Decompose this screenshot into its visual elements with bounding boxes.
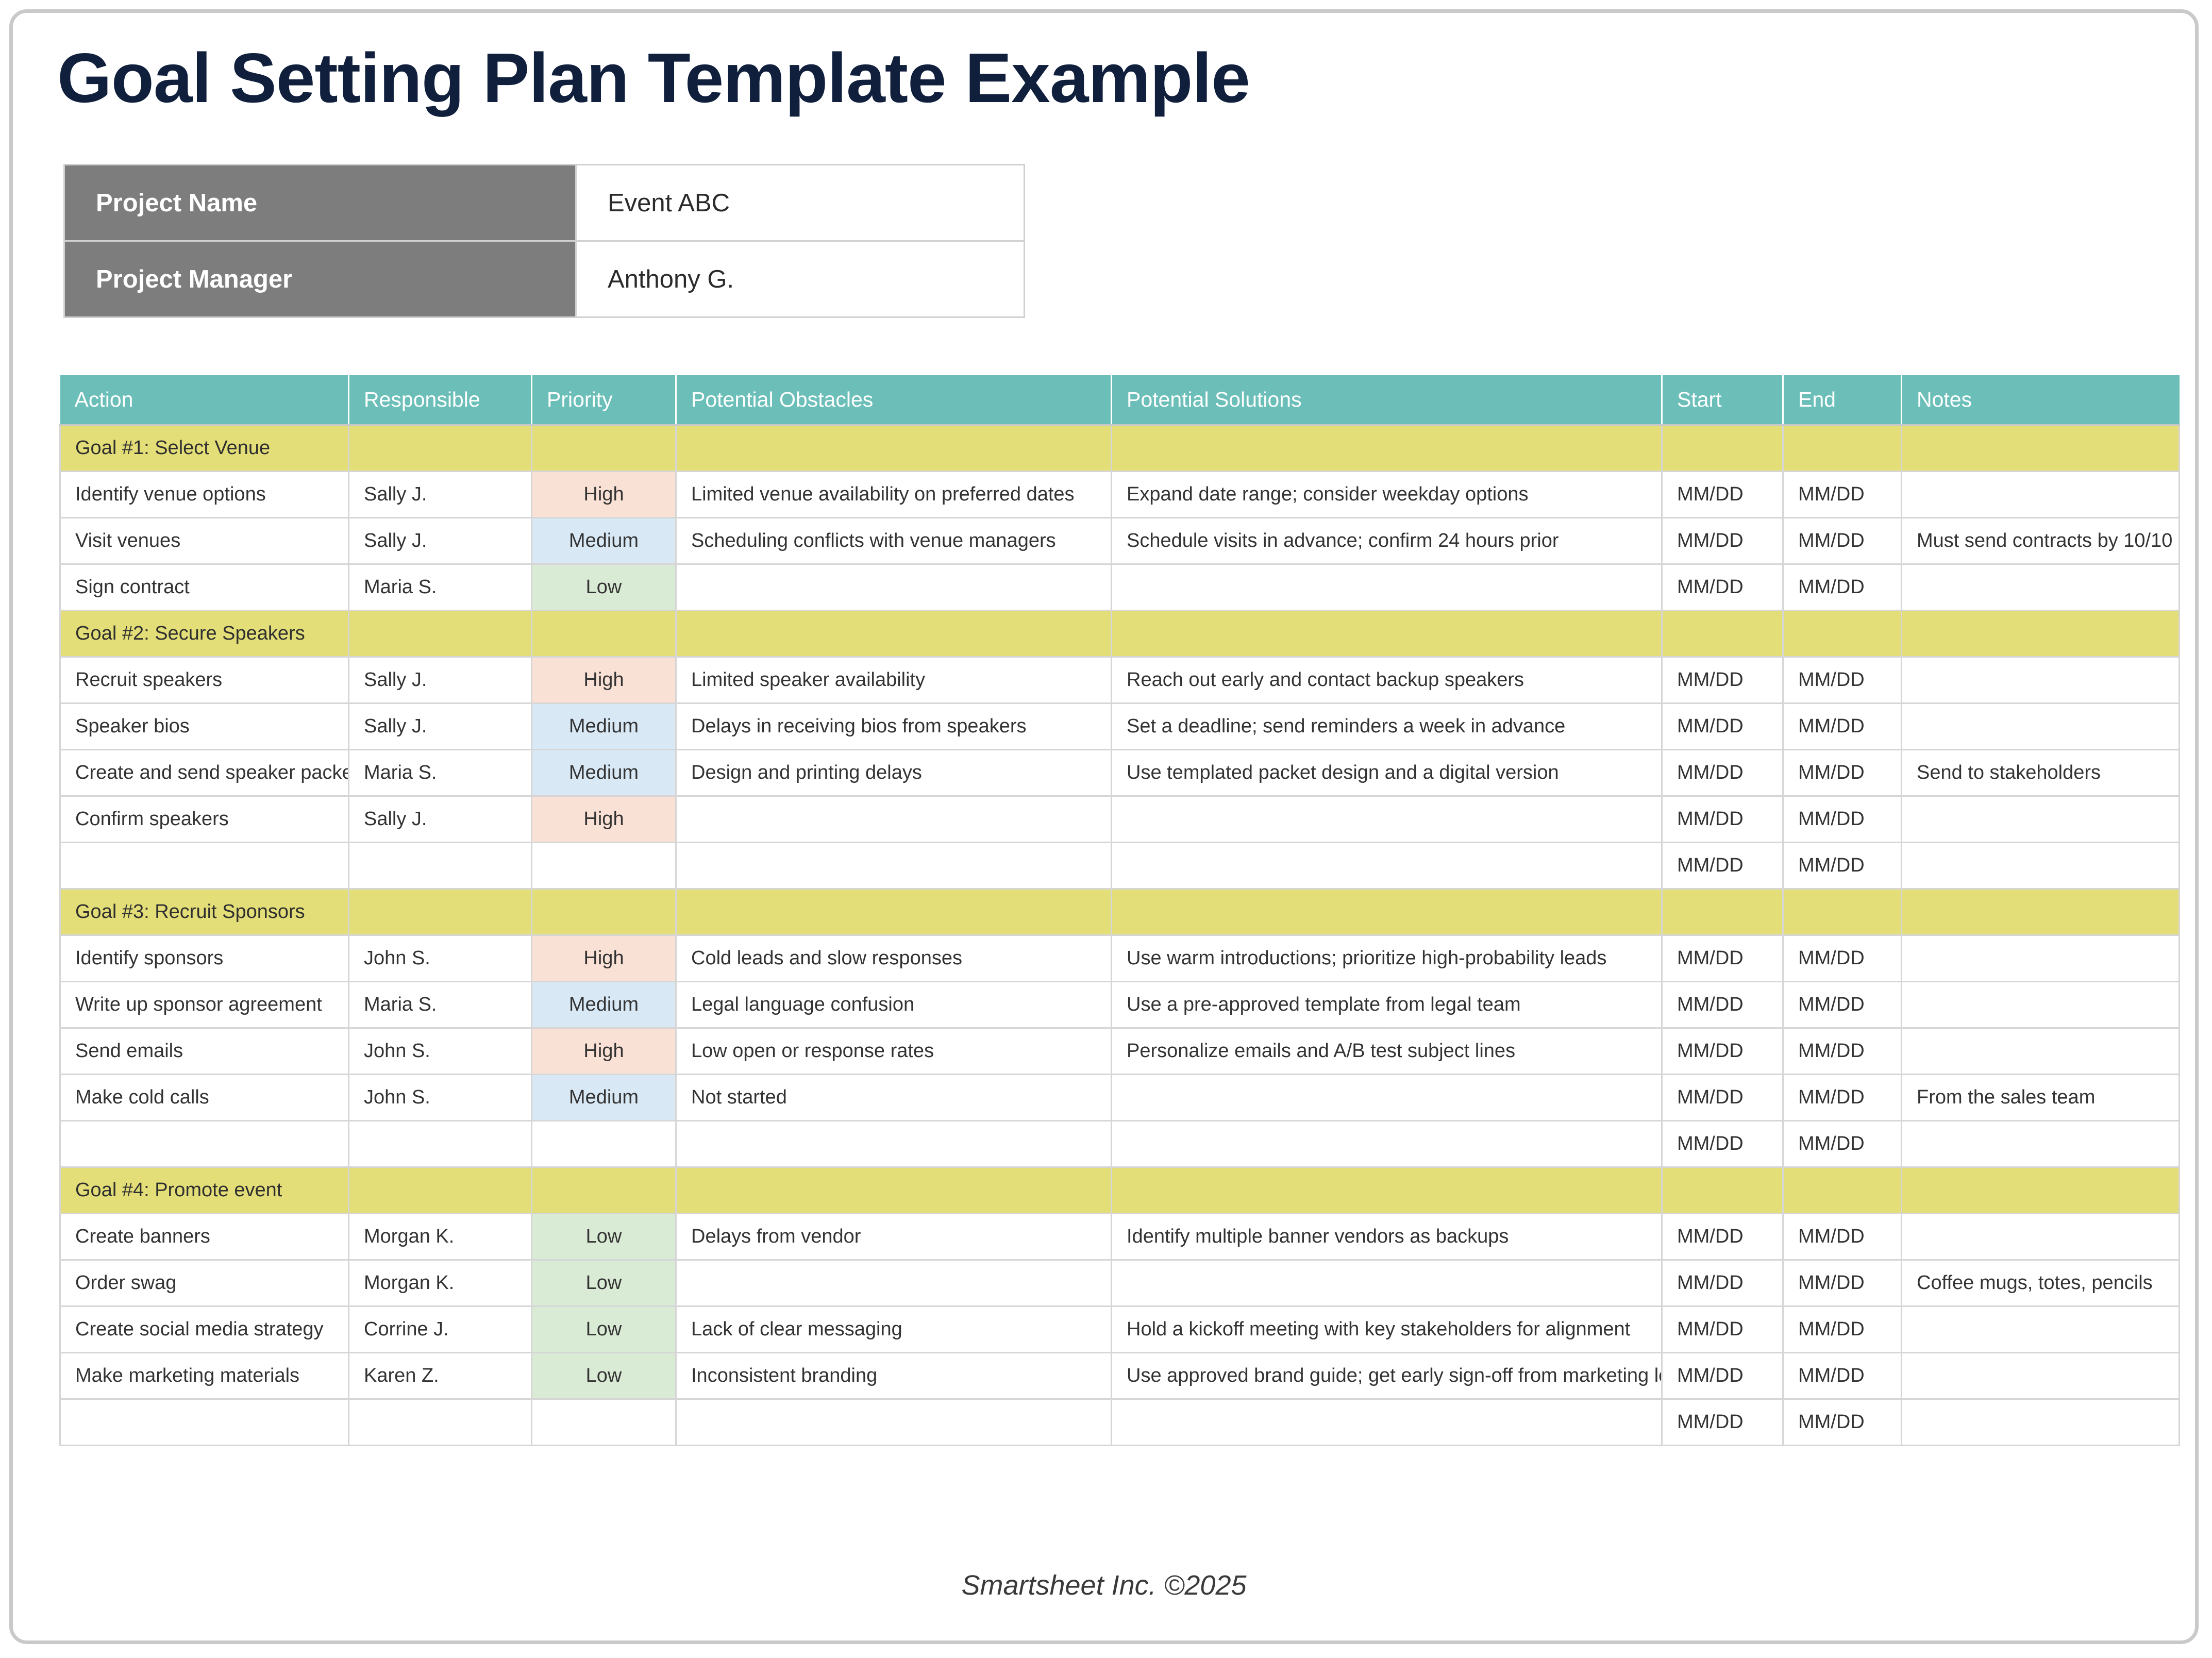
table-row: Order swagMorgan K.LowMM/DDMM/DDCoffee m… [60, 1260, 2180, 1307]
end-date-cell[interactable]: MM/DD [1783, 1214, 1902, 1260]
solutions-cell[interactable] [1112, 796, 1662, 843]
responsible-cell[interactable]: Maria S. [349, 982, 532, 1028]
start-date-cell[interactable]: MM/DD [1662, 843, 1783, 889]
action-cell[interactable]: Sign contract [60, 564, 349, 611]
end-date-cell[interactable]: MM/DD [1783, 1399, 1902, 1446]
footer-copyright: Smartsheet Inc. ©2025 [13, 1569, 2195, 1601]
responsible-cell[interactable]: Maria S. [349, 564, 532, 611]
column-header-potential-solutions: Potential Solutions [1112, 375, 1662, 425]
priority-cell[interactable]: Low [532, 1353, 676, 1399]
project-info-body: Project NameEvent ABCProject ManagerAnth… [64, 165, 1025, 317]
end-date-cell[interactable]: MM/DD [1783, 1075, 1902, 1121]
start-date-cell[interactable]: MM/DD [1662, 1214, 1783, 1260]
action-cell[interactable]: Create banners [60, 1214, 349, 1260]
page-title: Goal Setting Plan Template Example [57, 38, 1250, 118]
obstacles-cell[interactable]: Limited speaker availability [676, 657, 1112, 704]
solutions-cell[interactable]: Reach out early and contact backup speak… [1112, 657, 1662, 704]
notes-cell[interactable] [1902, 657, 2180, 704]
table-row: Recruit speakersSally J.HighLimited spea… [60, 657, 2180, 704]
solutions-cell [1112, 1167, 1662, 1214]
responsible-cell[interactable]: Morgan K. [349, 1260, 532, 1307]
notes-cell [1902, 611, 2180, 657]
responsible-cell[interactable] [349, 1399, 532, 1446]
obstacles-cell[interactable] [676, 1121, 1112, 1167]
priority-cell[interactable] [532, 1121, 676, 1167]
solutions-cell[interactable]: Expand date range; consider weekday opti… [1112, 472, 1662, 518]
obstacles-cell[interactable]: Lack of clear messaging [676, 1307, 1112, 1353]
action-cell[interactable]: Visit venues [60, 518, 349, 564]
table-row: Create bannersMorgan K.LowDelays from ve… [60, 1214, 2180, 1260]
start-date-cell[interactable]: MM/DD [1662, 1028, 1783, 1075]
priority-cell [532, 425, 676, 472]
priority-cell[interactable]: High [532, 935, 676, 982]
priority-cell [532, 611, 676, 657]
action-cell[interactable]: Confirm speakers [60, 796, 349, 843]
end-date-cell[interactable]: MM/DD [1783, 1121, 1902, 1167]
notes-cell[interactable] [1902, 982, 2180, 1028]
goal-section-row: Goal #2: Secure Speakers [60, 611, 2180, 657]
action-cell[interactable]: Order swag [60, 1260, 349, 1307]
end-date-cell[interactable]: MM/DD [1783, 657, 1902, 704]
end-date-cell[interactable]: MM/DD [1783, 1260, 1902, 1307]
table-row: MM/DDMM/DD [60, 1121, 2180, 1167]
notes-cell[interactable] [1902, 472, 2180, 518]
notes-cell[interactable]: From the sales team [1902, 1075, 2180, 1121]
plan-table-body: Goal #1: Select VenueIdentify venue opti… [60, 425, 2180, 1446]
solutions-cell[interactable] [1112, 843, 1662, 889]
table-row: MM/DDMM/DD [60, 1399, 2180, 1446]
solutions-cell[interactable]: Personalize emails and A/B test subject … [1112, 1028, 1662, 1075]
priority-cell[interactable]: High [532, 472, 676, 518]
table-row: Identify venue optionsSally J.HighLimite… [60, 472, 2180, 518]
obstacles-cell[interactable] [676, 564, 1112, 611]
obstacles-cell [676, 1167, 1112, 1214]
priority-cell[interactable]: High [532, 1028, 676, 1075]
table-row: Send emailsJohn S.HighLow open or respon… [60, 1028, 2180, 1075]
responsible-cell[interactable]: John S. [349, 1028, 532, 1075]
table-row: Create social media strategyCorrine J.Lo… [60, 1307, 2180, 1353]
start-date-cell [1662, 425, 1783, 472]
notes-cell[interactable] [1902, 1307, 2180, 1353]
notes-cell [1902, 889, 2180, 935]
end-date-cell[interactable]: MM/DD [1783, 982, 1902, 1028]
responsible-cell[interactable]: Sally J. [349, 704, 532, 750]
project-info-label: Project Manager [64, 241, 576, 317]
priority-cell [532, 889, 676, 935]
priority-cell[interactable]: Medium [532, 750, 676, 796]
notes-cell[interactable]: Send to stakeholders [1902, 750, 2180, 796]
plan-table-head: ActionResponsiblePriorityPotential Obsta… [60, 375, 2180, 425]
solutions-cell[interactable]: Set a deadline; send reminders a week in… [1112, 704, 1662, 750]
obstacles-cell [676, 889, 1112, 935]
responsible-cell[interactable]: Sally J. [349, 518, 532, 564]
priority-cell[interactable]: Medium [532, 704, 676, 750]
start-date-cell[interactable]: MM/DD [1662, 1399, 1783, 1446]
solutions-cell[interactable] [1112, 1399, 1662, 1446]
action-cell[interactable]: Identify venue options [60, 472, 349, 518]
end-date-cell[interactable]: MM/DD [1783, 796, 1902, 843]
start-date-cell [1662, 1167, 1783, 1214]
obstacles-cell[interactable]: Low open or response rates [676, 1028, 1112, 1075]
end-date-cell[interactable]: MM/DD [1783, 518, 1902, 564]
priority-cell[interactable]: High [532, 657, 676, 704]
table-row: Make marketing materialsKaren Z.LowIncon… [60, 1353, 2180, 1399]
solutions-cell[interactable] [1112, 564, 1662, 611]
priority-cell[interactable]: Medium [532, 982, 676, 1028]
priority-cell[interactable] [532, 1399, 676, 1446]
end-date-cell [1783, 611, 1902, 657]
notes-cell [1902, 1167, 2180, 1214]
column-header-notes: Notes [1902, 375, 2180, 425]
obstacles-cell[interactable] [676, 796, 1112, 843]
project-info-row: Project NameEvent ABC [64, 165, 1025, 241]
end-date-cell[interactable]: MM/DD [1783, 935, 1902, 982]
goal-label: Goal #3: Recruit Sponsors [60, 889, 349, 935]
start-date-cell[interactable]: MM/DD [1662, 750, 1783, 796]
column-header-responsible: Responsible [349, 375, 532, 425]
project-info-row: Project ManagerAnthony G. [64, 241, 1025, 317]
notes-cell[interactable] [1902, 1214, 2180, 1260]
priority-cell[interactable]: Low [532, 1214, 676, 1260]
start-date-cell[interactable]: MM/DD [1662, 1260, 1783, 1307]
notes-cell[interactable] [1902, 935, 2180, 982]
notes-cell[interactable] [1902, 564, 2180, 611]
responsible-cell[interactable] [349, 843, 532, 889]
solutions-cell [1112, 889, 1662, 935]
goal-label: Goal #4: Promote event [60, 1167, 349, 1214]
end-date-cell[interactable]: MM/DD [1783, 704, 1902, 750]
end-date-cell [1783, 1167, 1902, 1214]
action-cell[interactable]: Create social media strategy [60, 1307, 349, 1353]
column-header-potential-obstacles: Potential Obstacles [676, 375, 1112, 425]
start-date-cell[interactable]: MM/DD [1662, 1307, 1783, 1353]
responsible-cell[interactable]: Sally J. [349, 472, 532, 518]
priority-cell[interactable]: Medium [532, 1075, 676, 1121]
obstacles-cell[interactable]: Delays from vendor [676, 1214, 1112, 1260]
solutions-cell[interactable]: Identify multiple banner vendors as back… [1112, 1214, 1662, 1260]
notes-cell[interactable] [1902, 796, 2180, 843]
responsible-cell [349, 1167, 532, 1214]
project-info-table: Project NameEvent ABCProject ManagerAnth… [63, 164, 1025, 318]
priority-cell[interactable]: Medium [532, 518, 676, 564]
solutions-cell[interactable] [1112, 1075, 1662, 1121]
action-cell[interactable] [60, 1121, 349, 1167]
notes-cell[interactable] [1902, 1121, 2180, 1167]
priority-cell [532, 1167, 676, 1214]
responsible-cell [349, 889, 532, 935]
start-date-cell[interactable]: MM/DD [1662, 657, 1783, 704]
responsible-cell[interactable]: John S. [349, 1075, 532, 1121]
solutions-cell[interactable]: Use a pre-approved template from legal t… [1112, 982, 1662, 1028]
obstacles-cell[interactable]: Limited venue availability on preferred … [676, 472, 1112, 518]
solutions-cell [1112, 425, 1662, 472]
responsible-cell[interactable]: Morgan K. [349, 1214, 532, 1260]
goal-label: Goal #2: Secure Speakers [60, 611, 349, 657]
action-cell[interactable]: Send emails [60, 1028, 349, 1075]
end-date-cell[interactable]: MM/DD [1783, 564, 1902, 611]
action-cell[interactable] [60, 843, 349, 889]
end-date-cell[interactable]: MM/DD [1783, 1307, 1902, 1353]
priority-cell[interactable]: High [532, 796, 676, 843]
obstacles-cell [676, 425, 1112, 472]
plan-table-header-row: ActionResponsiblePriorityPotential Obsta… [60, 375, 2180, 425]
table-row: Create and send speaker packetsMaria S.M… [60, 750, 2180, 796]
action-cell[interactable]: Identify sponsors [60, 935, 349, 982]
priority-cell[interactable]: Low [532, 1307, 676, 1353]
start-date-cell[interactable]: MM/DD [1662, 564, 1783, 611]
solutions-cell[interactable]: Use warm introductions; prioritize high-… [1112, 935, 1662, 982]
responsible-cell[interactable] [349, 1121, 532, 1167]
notes-cell[interactable] [1902, 1353, 2180, 1399]
project-info-value[interactable]: Anthony G. [576, 241, 1025, 317]
table-row: Speaker biosSally J.MediumDelays in rece… [60, 704, 2180, 750]
start-date-cell[interactable]: MM/DD [1662, 935, 1783, 982]
end-date-cell[interactable]: MM/DD [1783, 472, 1902, 518]
obstacles-cell [676, 611, 1112, 657]
end-date-cell[interactable]: MM/DD [1783, 1353, 1902, 1399]
start-date-cell[interactable]: MM/DD [1662, 704, 1783, 750]
column-header-priority: Priority [532, 375, 676, 425]
action-cell[interactable]: Write up sponsor agreement [60, 982, 349, 1028]
obstacles-cell[interactable]: Design and printing delays [676, 750, 1112, 796]
responsible-cell[interactable]: John S. [349, 935, 532, 982]
notes-cell[interactable]: Coffee mugs, totes, pencils [1902, 1260, 2180, 1307]
start-date-cell[interactable]: MM/DD [1662, 1353, 1783, 1399]
table-row: Make cold callsJohn S.MediumNot startedM… [60, 1075, 2180, 1121]
goal-section-row: Goal #4: Promote event [60, 1167, 2180, 1214]
goal-plan-table: ActionResponsiblePriorityPotential Obsta… [59, 375, 2180, 1446]
table-row: MM/DDMM/DD [60, 843, 2180, 889]
obstacles-cell[interactable]: Inconsistent branding [676, 1353, 1112, 1399]
obstacles-cell[interactable]: Legal language confusion [676, 982, 1112, 1028]
start-date-cell[interactable]: MM/DD [1662, 1075, 1783, 1121]
start-date-cell[interactable]: MM/DD [1662, 518, 1783, 564]
solutions-cell[interactable]: Use templated packet design and a digita… [1112, 750, 1662, 796]
table-row: Identify sponsorsJohn S.HighCold leads a… [60, 935, 2180, 982]
start-date-cell[interactable]: MM/DD [1662, 982, 1783, 1028]
end-date-cell[interactable]: MM/DD [1783, 750, 1902, 796]
project-info-label: Project Name [64, 165, 576, 241]
goal-section-row: Goal #1: Select Venue [60, 425, 2180, 472]
action-cell[interactable]: Recruit speakers [60, 657, 349, 704]
end-date-cell[interactable]: MM/DD [1783, 1028, 1902, 1075]
start-date-cell [1662, 889, 1783, 935]
obstacles-cell[interactable] [676, 1399, 1112, 1446]
document-page: Goal Setting Plan Template Example Proje… [9, 9, 2199, 1644]
priority-cell[interactable] [532, 843, 676, 889]
table-row: Confirm speakersSally J.HighMM/DDMM/DD [60, 796, 2180, 843]
solutions-cell [1112, 611, 1662, 657]
obstacles-cell[interactable]: Delays in receiving bios from speakers [676, 704, 1112, 750]
notes-cell[interactable] [1902, 1028, 2180, 1075]
obstacles-cell[interactable]: Cold leads and slow responses [676, 935, 1112, 982]
action-cell[interactable]: Create and send speaker packets [60, 750, 349, 796]
table-row: Sign contractMaria S.LowMM/DDMM/DD [60, 564, 2180, 611]
responsible-cell[interactable]: Sally J. [349, 657, 532, 704]
solutions-cell[interactable] [1112, 1121, 1662, 1167]
solutions-cell[interactable]: Schedule visits in advance; confirm 24 h… [1112, 518, 1662, 564]
end-date-cell [1783, 889, 1902, 935]
obstacles-cell[interactable] [676, 1260, 1112, 1307]
notes-cell [1902, 425, 2180, 472]
start-date-cell[interactable]: MM/DD [1662, 1121, 1783, 1167]
start-date-cell[interactable]: MM/DD [1662, 796, 1783, 843]
responsible-cell [349, 425, 532, 472]
solutions-cell[interactable]: Hold a kickoff meeting with key stakehol… [1112, 1307, 1662, 1353]
priority-cell[interactable]: Low [532, 1260, 676, 1307]
notes-cell[interactable] [1902, 1399, 2180, 1446]
column-header-end: End [1783, 375, 1902, 425]
responsible-cell[interactable]: Karen Z. [349, 1353, 532, 1399]
action-cell[interactable]: Make cold calls [60, 1075, 349, 1121]
responsible-cell[interactable]: Sally J. [349, 796, 532, 843]
responsible-cell[interactable]: Corrine J. [349, 1307, 532, 1353]
notes-cell[interactable] [1902, 704, 2180, 750]
goal-label: Goal #1: Select Venue [60, 425, 349, 472]
responsible-cell[interactable]: Maria S. [349, 750, 532, 796]
responsible-cell [349, 611, 532, 657]
solutions-cell[interactable] [1112, 1260, 1662, 1307]
table-row: Write up sponsor agreementMaria S.Medium… [60, 982, 2180, 1028]
obstacles-cell[interactable]: Not started [676, 1075, 1112, 1121]
goal-section-row: Goal #3: Recruit Sponsors [60, 889, 2180, 935]
start-date-cell [1662, 611, 1783, 657]
end-date-cell[interactable]: MM/DD [1783, 843, 1902, 889]
action-cell[interactable] [60, 1399, 349, 1446]
priority-cell[interactable]: Low [532, 564, 676, 611]
solutions-cell[interactable]: Use approved brand guide; get early sign… [1112, 1353, 1662, 1399]
project-info-value[interactable]: Event ABC [576, 165, 1025, 241]
obstacles-cell[interactable] [676, 843, 1112, 889]
column-header-start: Start [1662, 375, 1783, 425]
notes-cell[interactable]: Must send contracts by 10/10 [1902, 518, 2180, 564]
action-cell[interactable]: Speaker bios [60, 704, 349, 750]
start-date-cell[interactable]: MM/DD [1662, 472, 1783, 518]
end-date-cell [1783, 425, 1902, 472]
action-cell[interactable]: Make marketing materials [60, 1353, 349, 1399]
table-row: Visit venuesSally J.MediumScheduling con… [60, 518, 2180, 564]
obstacles-cell[interactable]: Scheduling conflicts with venue managers [676, 518, 1112, 564]
notes-cell[interactable] [1902, 843, 2180, 889]
column-header-action: Action [60, 375, 349, 425]
